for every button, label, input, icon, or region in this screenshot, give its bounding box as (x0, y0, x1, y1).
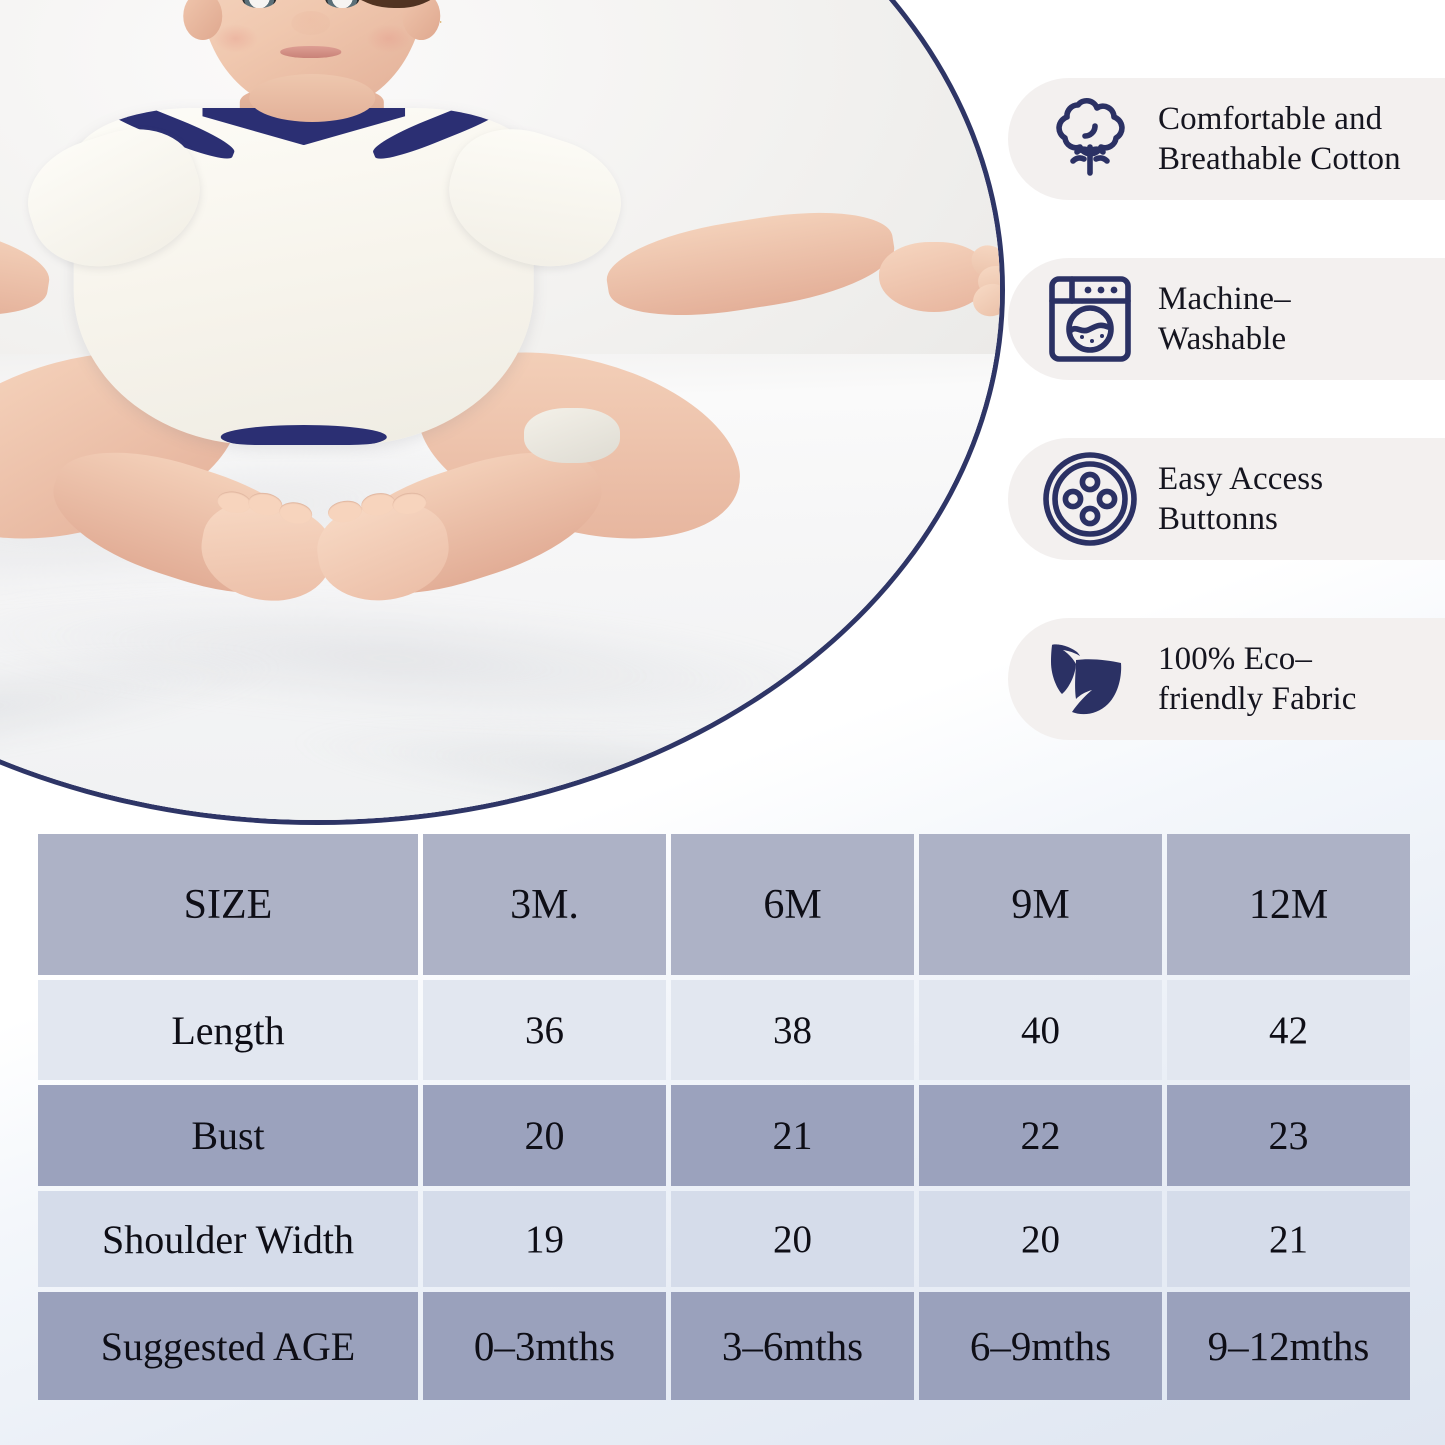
washing-machine-icon (1038, 267, 1142, 371)
row-value: 36 (423, 980, 666, 1080)
earring (440, 21, 442, 23)
row-value: 20 (671, 1191, 914, 1287)
row-value: 23 (1167, 1085, 1410, 1186)
row-value: 3–6mths (671, 1292, 914, 1400)
row-label: Bust (38, 1085, 418, 1186)
baby-mouth (280, 46, 341, 58)
table-row-shoulder-width: Shoulder Width 19 20 20 21 (38, 1191, 1410, 1287)
baby-right-eye (326, 0, 360, 8)
feature-label: Easy Access Buttonns (1158, 459, 1323, 540)
baby-right-foot (311, 495, 454, 609)
row-value: 42 (1167, 980, 1410, 1080)
table-header-cell-6m: 6M (671, 834, 914, 975)
baby-model (0, 0, 1005, 825)
eco-leaf-icon (1038, 627, 1142, 731)
table-row-suggested-age: Suggested AGE 0–3mths 3–6mths 6–9mths 9–… (38, 1292, 1410, 1400)
row-label: Shoulder Width (38, 1191, 418, 1287)
baby-right-cheek (366, 24, 411, 52)
table-header-row: SIZE 3M. 6M 9M 12M (38, 834, 1410, 975)
table-header-cell-9m: 9M (919, 834, 1162, 975)
button-icon (1038, 447, 1142, 551)
baby-right-arm (601, 198, 900, 330)
baby-nose (292, 11, 330, 35)
baby-head (199, 0, 425, 111)
row-value: 19 (423, 1191, 666, 1287)
baby-left-cheek (213, 24, 258, 52)
cotton-boll-icon (1038, 87, 1142, 191)
feature-item-cotton: Comfortable and Breathable Cotton (1008, 78, 1445, 200)
table-header-cell-12m: 12M (1167, 834, 1410, 975)
infographic-canvas: Comfortable and Breathable Cotton (0, 0, 1445, 1445)
feature-item-eco-friendly: 100% Eco– friendly Fabric (1008, 618, 1445, 740)
row-value: 21 (1167, 1191, 1410, 1287)
baby-chin (249, 74, 375, 122)
row-value: 20 (423, 1085, 666, 1186)
feature-label: Comfortable and Breathable Cotton (1158, 99, 1401, 180)
size-chart-table: SIZE 3M. 6M 9M 12M Length 36 38 40 42 Bu… (38, 834, 1410, 1405)
row-value: 0–3mths (423, 1292, 666, 1400)
row-label: Suggested AGE (38, 1292, 418, 1400)
row-value: 22 (919, 1085, 1162, 1186)
table-header-cell-size: SIZE (38, 834, 418, 975)
baby-right-hand (879, 242, 989, 313)
feature-label: 100% Eco– friendly Fabric (1158, 639, 1357, 720)
feature-list: Comfortable and Breathable Cotton (1008, 78, 1445, 798)
baby-sock (524, 408, 620, 464)
table-row-bust: Bust 20 21 22 23 (38, 1085, 1410, 1186)
row-value: 40 (919, 980, 1162, 1080)
table-row-length: Length 36 38 40 42 (38, 980, 1410, 1080)
row-value: 9–12mths (1167, 1292, 1410, 1400)
row-value: 20 (919, 1191, 1162, 1287)
row-value: 6–9mths (919, 1292, 1162, 1400)
product-photo (0, 0, 1005, 825)
row-value: 21 (671, 1085, 914, 1186)
row-label: Length (38, 980, 418, 1080)
feature-item-machine-washable: Machine– Washable (1008, 258, 1445, 380)
feature-item-easy-access-buttons: Easy Access Buttonns (1008, 438, 1445, 560)
row-value: 38 (671, 980, 914, 1080)
feature-label: Machine– Washable (1158, 279, 1291, 360)
crotch-trim (221, 425, 387, 445)
baby-left-eye (242, 0, 276, 8)
table-header-cell-3m: 3M. (423, 834, 666, 975)
product-photo-clip (0, 0, 1005, 825)
